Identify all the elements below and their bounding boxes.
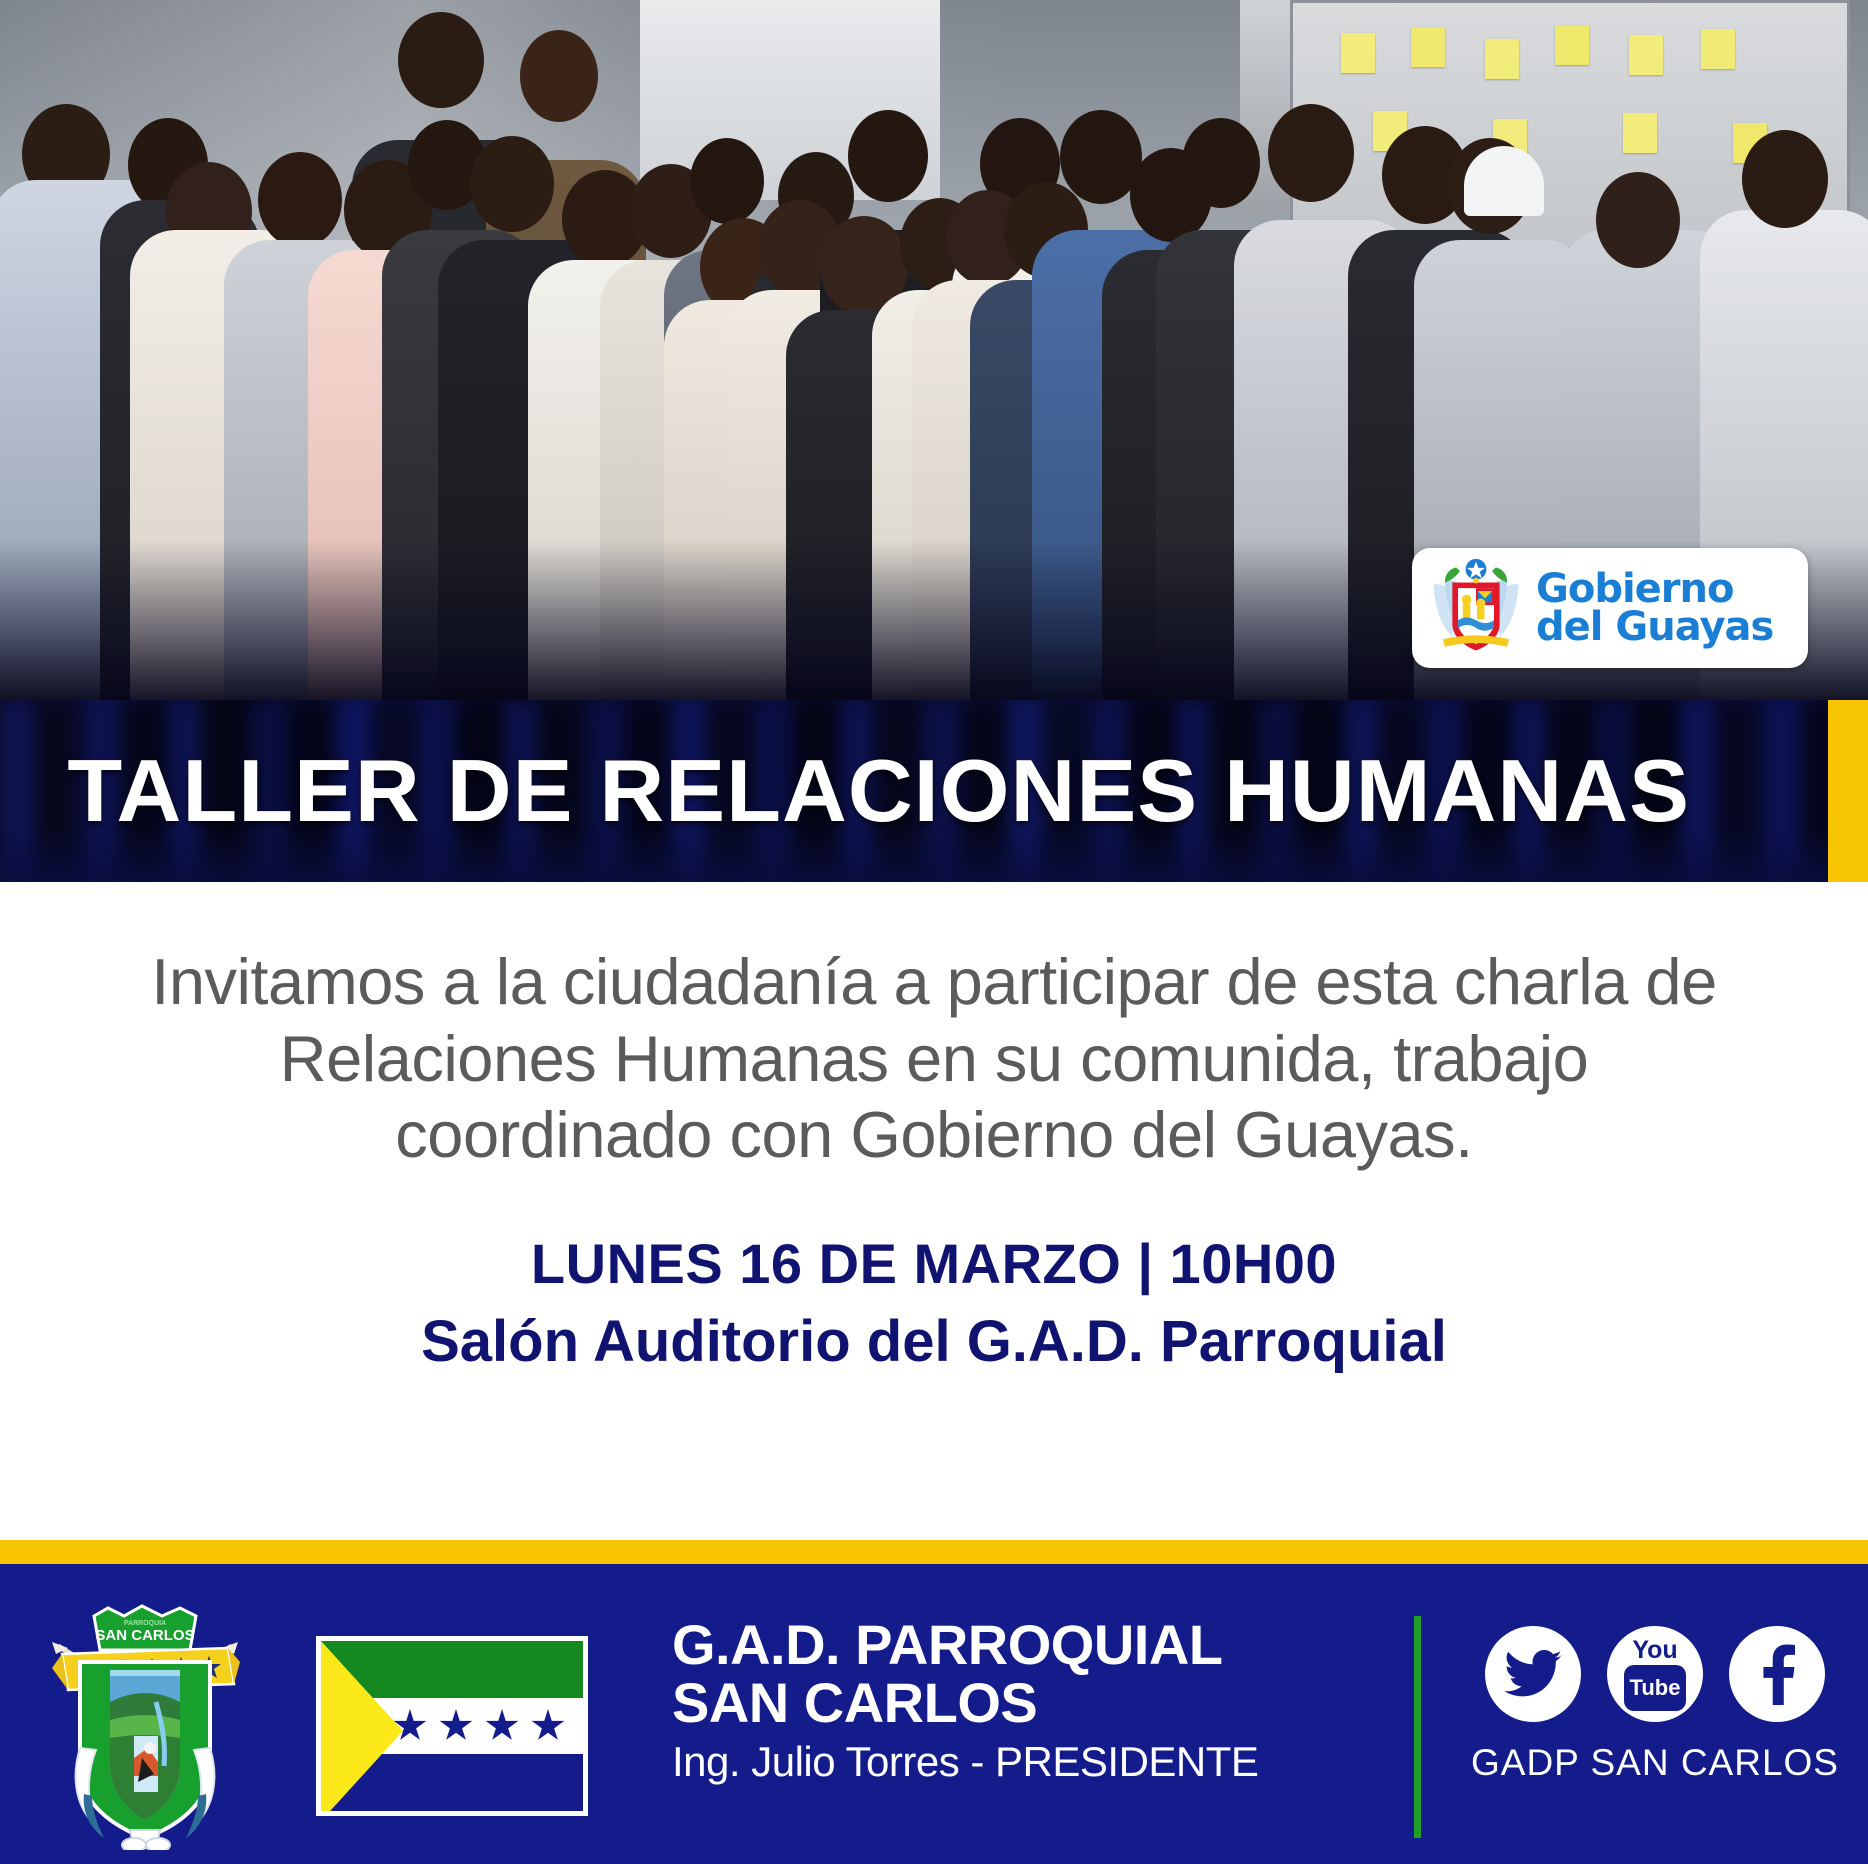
org-name-line1: G.A.D. PARROQUIAL bbox=[672, 1616, 1258, 1674]
event-date: LUNES 16 DE MARZO | 10H00 bbox=[0, 1230, 1868, 1297]
gobierno-del-guayas-logo: Gobierno del Guayas bbox=[1412, 548, 1808, 668]
org-name-line2: SAN CARLOS bbox=[672, 1674, 1258, 1732]
svg-text:PARROQUIA: PARROQUIA bbox=[124, 1620, 166, 1627]
event-details: LUNES 16 DE MARZO | 10H00 Salón Auditori… bbox=[0, 1230, 1868, 1377]
twitter-icon[interactable] bbox=[1485, 1626, 1581, 1722]
youtube-tube-text: Tube bbox=[1624, 1665, 1686, 1711]
invitation-text: Invitamos a la ciudadanía a participar d… bbox=[114, 944, 1754, 1174]
main-content: Invitamos a la ciudadanía a participar d… bbox=[0, 882, 1868, 1540]
poster-root: Gobierno del Guayas TALLER DE RELACIONES… bbox=[0, 0, 1868, 1864]
guayas-shield-icon bbox=[1424, 556, 1528, 660]
footer: SAN CARLOS PARROQUIA bbox=[0, 1564, 1868, 1864]
social-block: You Tube GADP SAN CARLOS bbox=[1470, 1626, 1840, 1784]
guayas-logo-line2: del Guayas bbox=[1536, 608, 1773, 646]
page-title: TALLER DE RELACIONES HUMANAS bbox=[0, 700, 1868, 882]
san-carlos-flag-icon bbox=[316, 1636, 588, 1816]
organization-block: G.A.D. PARROQUIAL SAN CARLOS Ing. Julio … bbox=[672, 1616, 1258, 1786]
svg-text:SAN CARLOS: SAN CARLOS bbox=[95, 1627, 194, 1644]
social-handle: GADP SAN CARLOS bbox=[1470, 1742, 1840, 1784]
flag-star bbox=[393, 1709, 427, 1743]
guayas-logo-line1: Gobierno bbox=[1536, 570, 1773, 608]
footer-divider bbox=[1414, 1616, 1421, 1838]
title-banner: TALLER DE RELACIONES HUMANAS bbox=[0, 700, 1868, 882]
social-icons: You Tube bbox=[1470, 1626, 1840, 1722]
facebook-f-glyph bbox=[1755, 1643, 1799, 1705]
facebook-icon[interactable] bbox=[1729, 1626, 1825, 1722]
event-venue: Salón Auditorio del G.A.D. Parroquial bbox=[0, 1307, 1868, 1377]
youtube-icon[interactable]: You Tube bbox=[1607, 1626, 1703, 1722]
flag-stars bbox=[321, 1698, 583, 1754]
san-carlos-crest-icon: SAN CARLOS PARROQUIA bbox=[38, 1598, 252, 1850]
footer-accent-bar bbox=[0, 1540, 1868, 1564]
president-name: Ing. Julio Torres - PRESIDENTE bbox=[672, 1738, 1258, 1786]
guayas-logo-text: Gobierno del Guayas bbox=[1536, 570, 1773, 646]
youtube-you-text: You bbox=[1632, 1638, 1677, 1663]
flag-star bbox=[485, 1709, 519, 1743]
flag-star bbox=[531, 1709, 565, 1743]
twitter-bird-glyph bbox=[1504, 1650, 1562, 1698]
flag-star bbox=[439, 1709, 473, 1743]
title-accent-bar bbox=[1828, 700, 1868, 882]
